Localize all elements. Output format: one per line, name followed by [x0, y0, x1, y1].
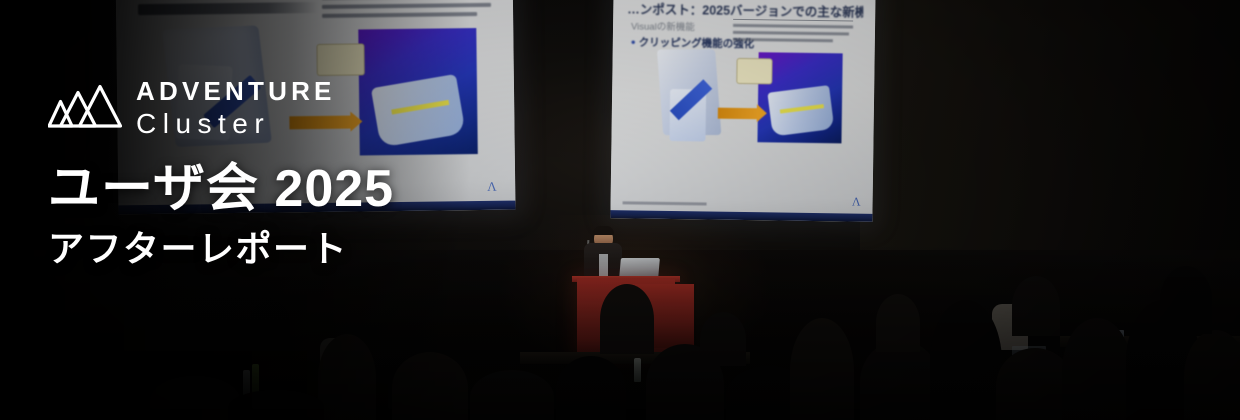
slide-orange-arrow-right: [718, 108, 758, 120]
audience-member: [1062, 318, 1132, 420]
audience-member: [556, 356, 626, 420]
audience-member: [700, 312, 746, 366]
audience-member: [470, 370, 554, 420]
audience-member: [600, 284, 654, 354]
page-subtitle: アフターレポート: [48, 229, 394, 269]
slide-subtitle-right: Visualの新機能: [631, 18, 695, 33]
slide-title-left: [138, 2, 318, 15]
audience-member: [318, 334, 376, 420]
audience-member: [150, 376, 240, 420]
audience-member: [876, 294, 920, 352]
brand-wordmark: ADVENTURE Cluster: [136, 78, 336, 140]
brand-lockup: ADVENTURE Cluster: [48, 78, 394, 140]
audience-member: [8, 352, 82, 420]
audience-member: [930, 300, 1002, 420]
slide-callout-left: [316, 43, 364, 76]
audience-member: [392, 352, 468, 420]
audience-member: [790, 318, 854, 420]
slide-callout-right: [736, 58, 772, 85]
presenter-hair: [593, 226, 614, 235]
slide-headline-right: …ンポスト：2025バージョンでの主な新機能: [627, 0, 863, 21]
water-bottle: [634, 358, 641, 382]
page-title: ユーザ会 2025: [48, 162, 394, 217]
audience-member: [228, 390, 324, 420]
slide-body-text-right: [733, 24, 853, 47]
slide-logo-icon-left: Λ: [487, 180, 501, 194]
event-report-hero-banner: Λ …ンポスト：2025バージョンでの主な新機能 Visualの新機能 クリッピ…: [0, 0, 1240, 420]
audience-member: [860, 340, 940, 420]
audience-member: [1160, 266, 1212, 334]
slide-body-text-left: [322, 0, 498, 23]
audience-member: [1012, 276, 1060, 336]
hero-text-overlay: ADVENTURE Cluster ユーザ会 2025 アフターレポート: [48, 78, 394, 269]
projection-screen-right: …ンポスト：2025バージョンでの主な新機能 Visualの新機能 クリッピング…: [610, 0, 875, 222]
triple-mountain-icon: [48, 84, 122, 135]
audience-member: [250, 300, 290, 348]
brand-name-secondary: Cluster: [136, 107, 336, 140]
audience-member: [1184, 330, 1240, 420]
brand-name-primary: ADVENTURE: [136, 78, 336, 105]
presenter-shirt: [599, 254, 608, 276]
slide-logo-icon-right: Λ: [852, 195, 861, 210]
